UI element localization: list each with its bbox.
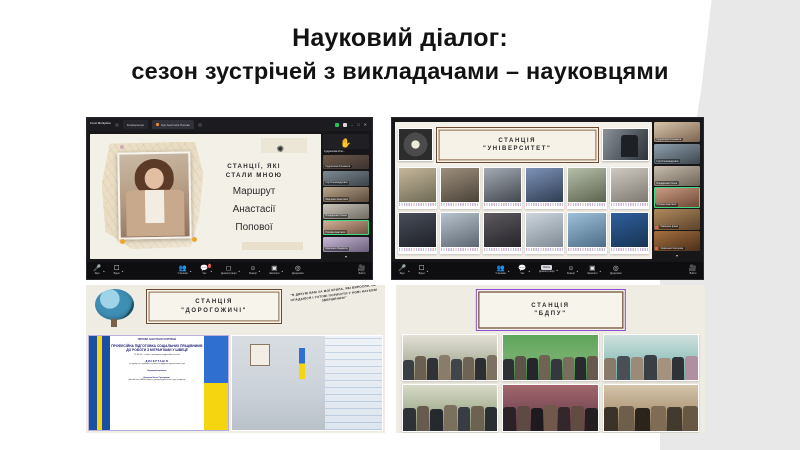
add-tab-icon[interactable]: [198, 123, 202, 127]
toolbar-more-button[interactable]: ◎ Додатково: [292, 265, 304, 276]
camera-icon: ☐: [114, 265, 120, 272]
recording-indicator-icon: [335, 123, 339, 127]
photo-grid: [402, 334, 699, 432]
chevron-up-icon[interactable]: ▴: [238, 269, 240, 273]
chevron-up-icon[interactable]: ▴: [210, 269, 212, 273]
participant-tile[interactable]: Кравченко Катерина: [654, 231, 700, 251]
poster-text: ПОПОВА АНАСТАСІЯ СЕРГІЇВНА ПРОФЕСІЙНА ПІ…: [110, 336, 204, 430]
gear-icon[interactable]: [115, 123, 119, 127]
toolbar-reactions-label: Реакції: [249, 273, 257, 276]
poster-speciality: 13.00.04 – теорія і методика професійної…: [111, 354, 203, 357]
leave-icon: 🎥: [358, 265, 366, 272]
self-name-label: Кудряшова Єли...: [323, 149, 369, 153]
poster-advisor-role: дійсний член НАПН України, доктор педаго…: [111, 379, 203, 382]
photo-face-shape: [144, 167, 164, 189]
decor-dot: [120, 239, 125, 244]
participant-name-label: Кравченко Катерина: [659, 247, 685, 251]
toolbar-more-label: Додатково: [610, 273, 622, 276]
title-line-2: сезон зустрічей з викладачами – науковця…: [0, 55, 800, 88]
zoom-toolbar[interactable]: 🎤 Звук ▴ ☐ Відео ▴ 👥 Учасники ▴: [87, 262, 372, 279]
participant-tile-active-speaker[interactable]: Попова Анастасія: [323, 220, 369, 235]
toolbar-chat-label: Чат: [202, 273, 206, 276]
toolbar-share-label: Демонстрація: [539, 271, 554, 274]
group-photo: [502, 334, 598, 381]
zoom-tab-meeting[interactable]: Зум Анастасія Попова: [152, 120, 194, 129]
slide-kicker-line-1: СТАНЦІЇ, ЯКІ: [201, 162, 307, 171]
toolbar-participants-label: Учасники: [178, 273, 188, 276]
toolbar-leave-label: Вийти: [690, 273, 697, 276]
maximize-icon[interactable]: □: [357, 123, 359, 127]
toolbar-record-button[interactable]: ▣ Записати ▴: [587, 265, 601, 276]
globe-illustration: [95, 289, 134, 320]
zoom-tab-meeting-label: Зум Анастасія Попова: [161, 123, 190, 127]
participant-name-label: Бондаренко Ольга: [655, 181, 679, 185]
toolbar-audio-button[interactable]: 🎤 Звук ▴: [93, 265, 105, 276]
shared-slide-text: СТАНЦІЇ, ЯКІ СТАЛИ МНОЮ Маршрут Анастасі…: [201, 162, 307, 234]
microphone-icon: 🎤: [93, 265, 101, 272]
decor-strip-bottom: [242, 242, 302, 251]
photo-card: [398, 167, 437, 209]
chevron-down-icon[interactable]: ▾: [654, 253, 700, 259]
presentation-slide: Науковий діалог: сезон зустрічей з викла…: [0, 0, 800, 450]
photo-people: [503, 404, 597, 430]
participant-name-label: Ігор Олександрович: [324, 181, 349, 185]
shared-slide-station-route: ✺ СТАНЦІЇ, ЯКІ СТАЛИ МНОЮ Маршрут Анаста…: [90, 134, 321, 259]
toolbar-leave-label: Вийти: [359, 273, 366, 276]
toolbar-share-button[interactable]: ◻ Демонстрація ▴: [221, 265, 240, 276]
microphone-icon: 🎤: [398, 265, 406, 272]
banner-line-1: СТАНЦІЯ: [483, 137, 551, 145]
participant-tile-active-speaker[interactable]: Попова Анастасія: [654, 187, 700, 207]
banner-line-1: СТАНЦІЯ: [181, 298, 247, 306]
window-controls: – □ ✕: [335, 123, 369, 127]
gratitude-quote: "Я ДЯКУЮ ВАМ ЗА МОЇ КРИЛА, ЯКІ ВИРОСЛИ, …: [289, 285, 380, 307]
participant-tile[interactable]: Бондаренко Олена: [323, 204, 369, 219]
toolbar-audio-label: Звук: [400, 273, 405, 276]
toolbar-video-label: Відео: [419, 273, 425, 276]
minimize-icon[interactable]: –: [351, 123, 353, 127]
screenshot-bottom-left-slide[interactable]: СТАНЦІЯ "ДОРОГОЖИЧІ" "Я ДЯКУЮ ВАМ ЗА МОЇ…: [86, 285, 385, 433]
shared-screen-stage: ✺ СТАНЦІЇ, ЯКІ СТАЛИ МНОЮ Маршрут Анаста…: [90, 134, 321, 259]
zoom-tab-conference-label: Конференція: [127, 123, 144, 127]
record-icon: ▣: [589, 265, 595, 272]
sweden-flag-decoration: [89, 336, 110, 430]
participant-tile[interactable]: Шевченко Людмила: [323, 237, 369, 252]
chevron-up-icon[interactable]: ▴: [508, 269, 510, 273]
chevron-up-icon[interactable]: ▴: [259, 269, 261, 273]
photo-card: [440, 212, 479, 254]
participant-name-label: Кудряшова Єлизавета: [324, 165, 352, 169]
participant-name-label: Ігор Олександрович: [655, 159, 680, 163]
participant-name-label: Попова Анастасія: [324, 230, 347, 234]
toolbar-audio-button[interactable]: 🎤 Звук ▴: [398, 265, 410, 276]
station-banner: СТАНЦІЯ "БДПУ": [475, 289, 625, 331]
participant-tile[interactable]: Кудряшова Єлизавета: [654, 122, 700, 142]
participants-filmstrip[interactable]: Кудряшова Єлизавета Ігор Олександрович Б…: [654, 122, 700, 259]
zoom-toolbar[interactable]: 🎤 Звук ▴ ☐ Відео ▴ 👥 Учасники ▴: [392, 262, 703, 279]
group-photo: [402, 334, 498, 381]
leave-icon: 🎥: [689, 265, 697, 272]
participant-name-label: Марченко Анастасія: [324, 197, 349, 201]
portrait-photo: [117, 151, 192, 239]
photo-card: [398, 212, 437, 254]
slide-route-line-1: Маршрут: [201, 185, 307, 198]
chevron-up-icon[interactable]: ▴: [528, 269, 530, 273]
participant-tile[interactable]: Павленко Ірина: [654, 209, 700, 229]
chevron-up-icon[interactable]: ▴: [577, 269, 579, 273]
photo-wall-frame: [250, 344, 270, 367]
chat-icon: 💬: [518, 265, 526, 272]
screenshot-top-right-zoom-window[interactable]: СТАНЦІЯ "УНІВЕРСИТЕТ": [391, 117, 704, 280]
slide-header: СТАНЦІЯ "ДОРОГОЖИЧІ" "Я ДЯКУЮ ВАМ ЗА МОЇ…: [86, 285, 385, 335]
chevron-up-icon[interactable]: ▴: [122, 269, 124, 273]
photo-people: [503, 354, 597, 380]
group-photo: [402, 384, 498, 431]
photo-card: [567, 212, 606, 254]
dissertation-poster: ПОПОВА АНАСТАСІЯ СЕРГІЇВНА ПРОФЕСІЙНА ПІ…: [88, 335, 229, 431]
self-video-tile[interactable]: ✋ Кудряшова Єли...: [323, 134, 369, 153]
record-icon: ▣: [271, 265, 277, 272]
more-icon: ◎: [613, 265, 619, 272]
participant-tile[interactable]: Бондаренко Ольга: [654, 166, 700, 186]
photo-card: [483, 167, 522, 209]
chevron-down-icon[interactable]: ▾: [323, 253, 369, 259]
shared-slide-station-university: СТАНЦІЯ "УНІВЕРСИТЕТ": [395, 122, 652, 259]
toolbar-leave-button[interactable]: 🎥 Вийти: [689, 265, 697, 276]
defence-group-photo: [231, 335, 383, 431]
photo-card: [567, 167, 606, 209]
zoom-meeting-body: СТАНЦІЯ "УНІВЕРСИТЕТ": [392, 118, 703, 262]
participant-tile[interactable]: Ігор Олександрович: [323, 171, 369, 186]
vinyl-photo: [398, 128, 433, 161]
camera-icon: ☐: [419, 265, 425, 272]
slide-body: ПОПОВА АНАСТАСІЯ СЕРГІЇВНА ПРОФЕСІЙНА ПІ…: [86, 335, 385, 433]
toolbar-reactions-button[interactable]: ☺ Реакції ▴: [249, 265, 260, 276]
group-photo: [603, 334, 699, 381]
toolbar-share-button[interactable]: Вийти Демонстрація ▴: [539, 265, 558, 274]
slide-header-row: СТАНЦІЯ "УНІВЕРСИТЕТ": [398, 125, 649, 164]
title-line-1: Науковий діалог:: [0, 22, 800, 55]
photo-row: [402, 334, 699, 381]
photo-card: [610, 167, 649, 209]
participant-name-label: Попова Анастасія: [655, 203, 678, 207]
toolbar-share-label: Демонстрація: [221, 273, 236, 276]
toolbar-participants-button[interactable]: 👥 Учасники ▴: [496, 265, 510, 276]
poster-title: ПРОФЕСІЙНА ПІДГОТОВКА СОЦІАЛЬНИХ ПРАЦІВН…: [111, 344, 203, 353]
toolbar-record-button[interactable]: ▣ Записати ▴: [269, 265, 283, 276]
slide-route-line-3: Попової: [201, 221, 307, 234]
banner-line-2: "БДПУ": [531, 310, 569, 318]
toolbar-chat-button[interactable]: 💬 Чат ▴: [518, 265, 530, 276]
toolbar-participants-button[interactable]: 👥 Учасники ▴: [178, 265, 192, 276]
participant-name-label: Кудряшова Єлизавета: [655, 138, 683, 142]
toolbar-more-button[interactable]: ◎ Додатково: [610, 265, 622, 276]
participant-name-label: Павленко Ірина: [659, 225, 679, 229]
photo-row: [402, 384, 699, 431]
meeting-indicator-icon: [156, 123, 159, 126]
photo-people: [604, 354, 698, 380]
photo-card: [525, 212, 564, 254]
banner-line-2: "ДОРОГОЖИЧІ": [181, 307, 247, 315]
participant-name-label: Бондаренко Олена: [324, 214, 348, 218]
poster-advisor-label: Науковий керівник:: [111, 370, 203, 373]
participant-name-label: Шевченко Людмила: [324, 247, 349, 251]
photo-people: [403, 354, 497, 380]
poster-author: ПОПОВА АНАСТАСІЯ СЕРГІЇВНА: [111, 338, 203, 341]
reactions-icon: ☺: [249, 265, 256, 272]
station-banner: СТАНЦІЯ "ДОРОГОЖИЧІ": [146, 289, 283, 324]
chevron-up-icon[interactable]: ▴: [556, 268, 558, 272]
photo-card: [525, 167, 564, 209]
toolbar-record-label: Записати: [587, 273, 597, 276]
zoom-app-name: Zoom Workplace: [90, 123, 111, 126]
toolbar-video-button[interactable]: ☐ Відео ▴: [419, 265, 429, 276]
zoom-title-bar: Zoom Workplace Конференція Зум Анастасія…: [87, 118, 372, 131]
toolbar-leave-button[interactable]: 🎥 Вийти: [358, 265, 366, 276]
banner-line-2: "УНІВЕРСИТЕТ": [483, 145, 551, 153]
raised-hand-icon: ✋: [340, 139, 351, 148]
photo-shirt-shape: [145, 190, 165, 223]
screenshot-bottom-right-slide[interactable]: СТАНЦІЯ "БДПУ": [396, 285, 705, 433]
photo-card: [483, 212, 522, 254]
photo-card: [440, 167, 479, 209]
shared-screen-stage: СТАНЦІЯ "УНІВЕРСИТЕТ": [395, 122, 652, 259]
participants-icon: 👥: [497, 265, 505, 272]
more-icon: ◎: [295, 265, 301, 272]
view-layout-icon[interactable]: [343, 123, 347, 127]
screenshot-top-left-zoom-window[interactable]: Zoom Workplace Конференція Зум Анастасія…: [86, 117, 373, 280]
close-icon[interactable]: ✕: [364, 123, 367, 127]
photo-card: [610, 212, 649, 254]
mute-icon: [655, 247, 658, 250]
train-photo: [602, 128, 649, 161]
chevron-up-icon[interactable]: ▴: [282, 269, 284, 273]
poster-dissertation-subtitle: на здобуття наукового ступеня кандидата …: [111, 363, 203, 366]
toolbar-audio-label: Звук: [95, 273, 100, 276]
toolbar-reactions-button[interactable]: ☺ Реакції ▴: [567, 265, 578, 276]
zoom-tab-conference[interactable]: Конференція: [123, 120, 148, 129]
sparkle-icon: ✺: [277, 145, 285, 154]
slide-kicker-line-2: СТАЛИ МНОЮ: [201, 171, 307, 180]
banner-line-1: СТАНЦІЯ: [531, 302, 569, 310]
mute-icon: [655, 226, 658, 229]
chat-unread-badge: 1: [208, 264, 211, 267]
decor-dot: [192, 237, 197, 242]
chevron-up-icon[interactable]: ▴: [190, 269, 192, 273]
group-photo: [603, 384, 699, 431]
toolbar-more-label: Додатково: [292, 273, 304, 276]
share-screen-icon: ◻: [226, 265, 231, 272]
participant-tile[interactable]: Марченко Анастасія: [323, 187, 369, 202]
toolbar-participants-label: Учасники: [496, 273, 506, 276]
toolbar-chat-button[interactable]: 💬 1 Чат ▴: [200, 265, 212, 276]
photo-people: [604, 404, 698, 430]
photo-grid: [398, 167, 649, 253]
toolbar-record-label: Записати: [269, 273, 279, 276]
participants-filmstrip[interactable]: ✋ Кудряшова Єли... Кудряшова Єлизавета І…: [323, 134, 369, 259]
decor-strip-top: [261, 138, 307, 153]
photo-people: [403, 404, 497, 430]
toolbar-video-label: Відео: [114, 273, 120, 276]
participant-tile[interactable]: Ігор Олександрович: [654, 144, 700, 164]
chevron-up-icon[interactable]: ▴: [103, 269, 105, 273]
photo-card-tape: [399, 203, 436, 206]
toolbar-reactions-label: Реакції: [567, 273, 575, 276]
participant-tile[interactable]: Кудряшова Єлизавета: [323, 155, 369, 170]
participants-icon: 👥: [179, 265, 187, 272]
zoom-meeting-body: ✺ СТАНЦІЇ, ЯКІ СТАЛИ МНОЮ Маршрут Анаста…: [87, 131, 372, 262]
toolbar-video-button[interactable]: ☐ Відео ▴: [114, 265, 124, 276]
group-photo: [502, 384, 598, 431]
chevron-up-icon[interactable]: ▴: [600, 269, 602, 273]
station-banner: СТАНЦІЯ "УНІВЕРСИТЕТ": [436, 127, 599, 163]
slide-title: Науковий діалог: сезон зустрічей з викла…: [0, 22, 800, 88]
chevron-up-icon[interactable]: ▴: [408, 269, 410, 273]
reactions-icon: ☺: [567, 265, 574, 272]
photo-people: [238, 372, 376, 430]
chevron-up-icon[interactable]: ▴: [427, 269, 429, 273]
slide-route-line-2: Анастасії: [201, 203, 307, 216]
toolbar-chat-label: Чат: [520, 273, 524, 276]
ukraine-flag-decoration: [204, 336, 228, 430]
